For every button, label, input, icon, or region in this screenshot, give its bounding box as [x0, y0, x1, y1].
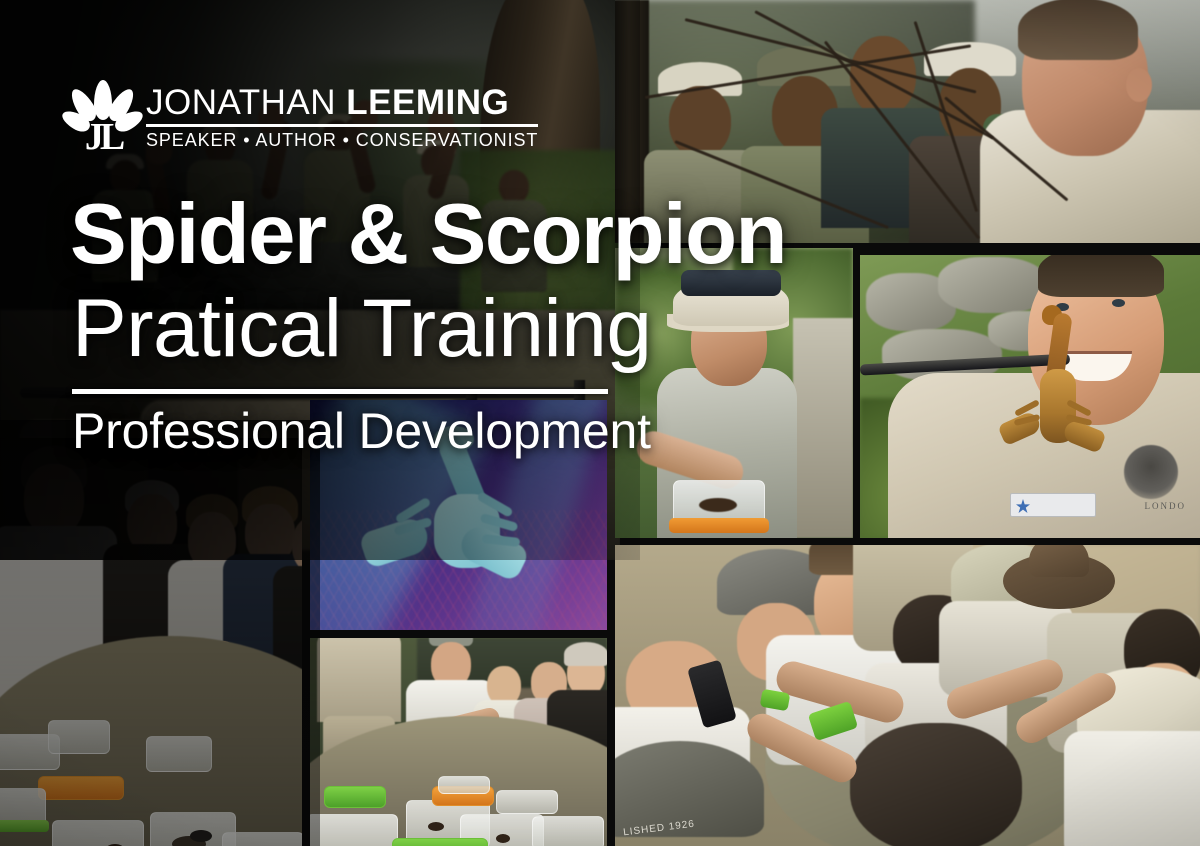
headline-divider [72, 389, 608, 394]
headline-secondary: Pratical Training [72, 288, 651, 370]
bush-hat [1003, 553, 1115, 609]
headline-primary: Spider & Scorpion [70, 192, 786, 277]
uv-scorpion-glow [376, 438, 566, 613]
photo-group-stone-table [310, 638, 607, 846]
poster-canvas: LONDO [0, 0, 1200, 846]
lodge-crest-icon [1124, 445, 1178, 499]
brand-logo: JL JONATHAN LEEMING SPEAKER • AUTHOR • C… [72, 80, 538, 156]
brand-tagline: SPEAKER • AUTHOR • CONSERVATIONIST [146, 130, 538, 151]
name-badge [1010, 493, 1096, 517]
photo-women-at-table [0, 438, 302, 846]
scorpion-specimen [1008, 313, 1108, 473]
brand-last-name: LEEMING [346, 83, 509, 122]
photo-scorpion-on-shoulder: LONDO [860, 255, 1200, 538]
headline-tertiary: Professional Development [72, 406, 651, 456]
brand-name: JONATHAN LEEMING [146, 85, 538, 121]
specimen-container-orange [673, 480, 765, 528]
brand-first-name: JONATHAN [146, 83, 336, 122]
tree-jl-monogram-icon: JL [72, 80, 134, 156]
photo-overhead-huddle: LISHED 1926 [615, 545, 1200, 846]
logo-divider [146, 124, 538, 127]
lodge-crest-label: LONDO [1145, 501, 1187, 511]
